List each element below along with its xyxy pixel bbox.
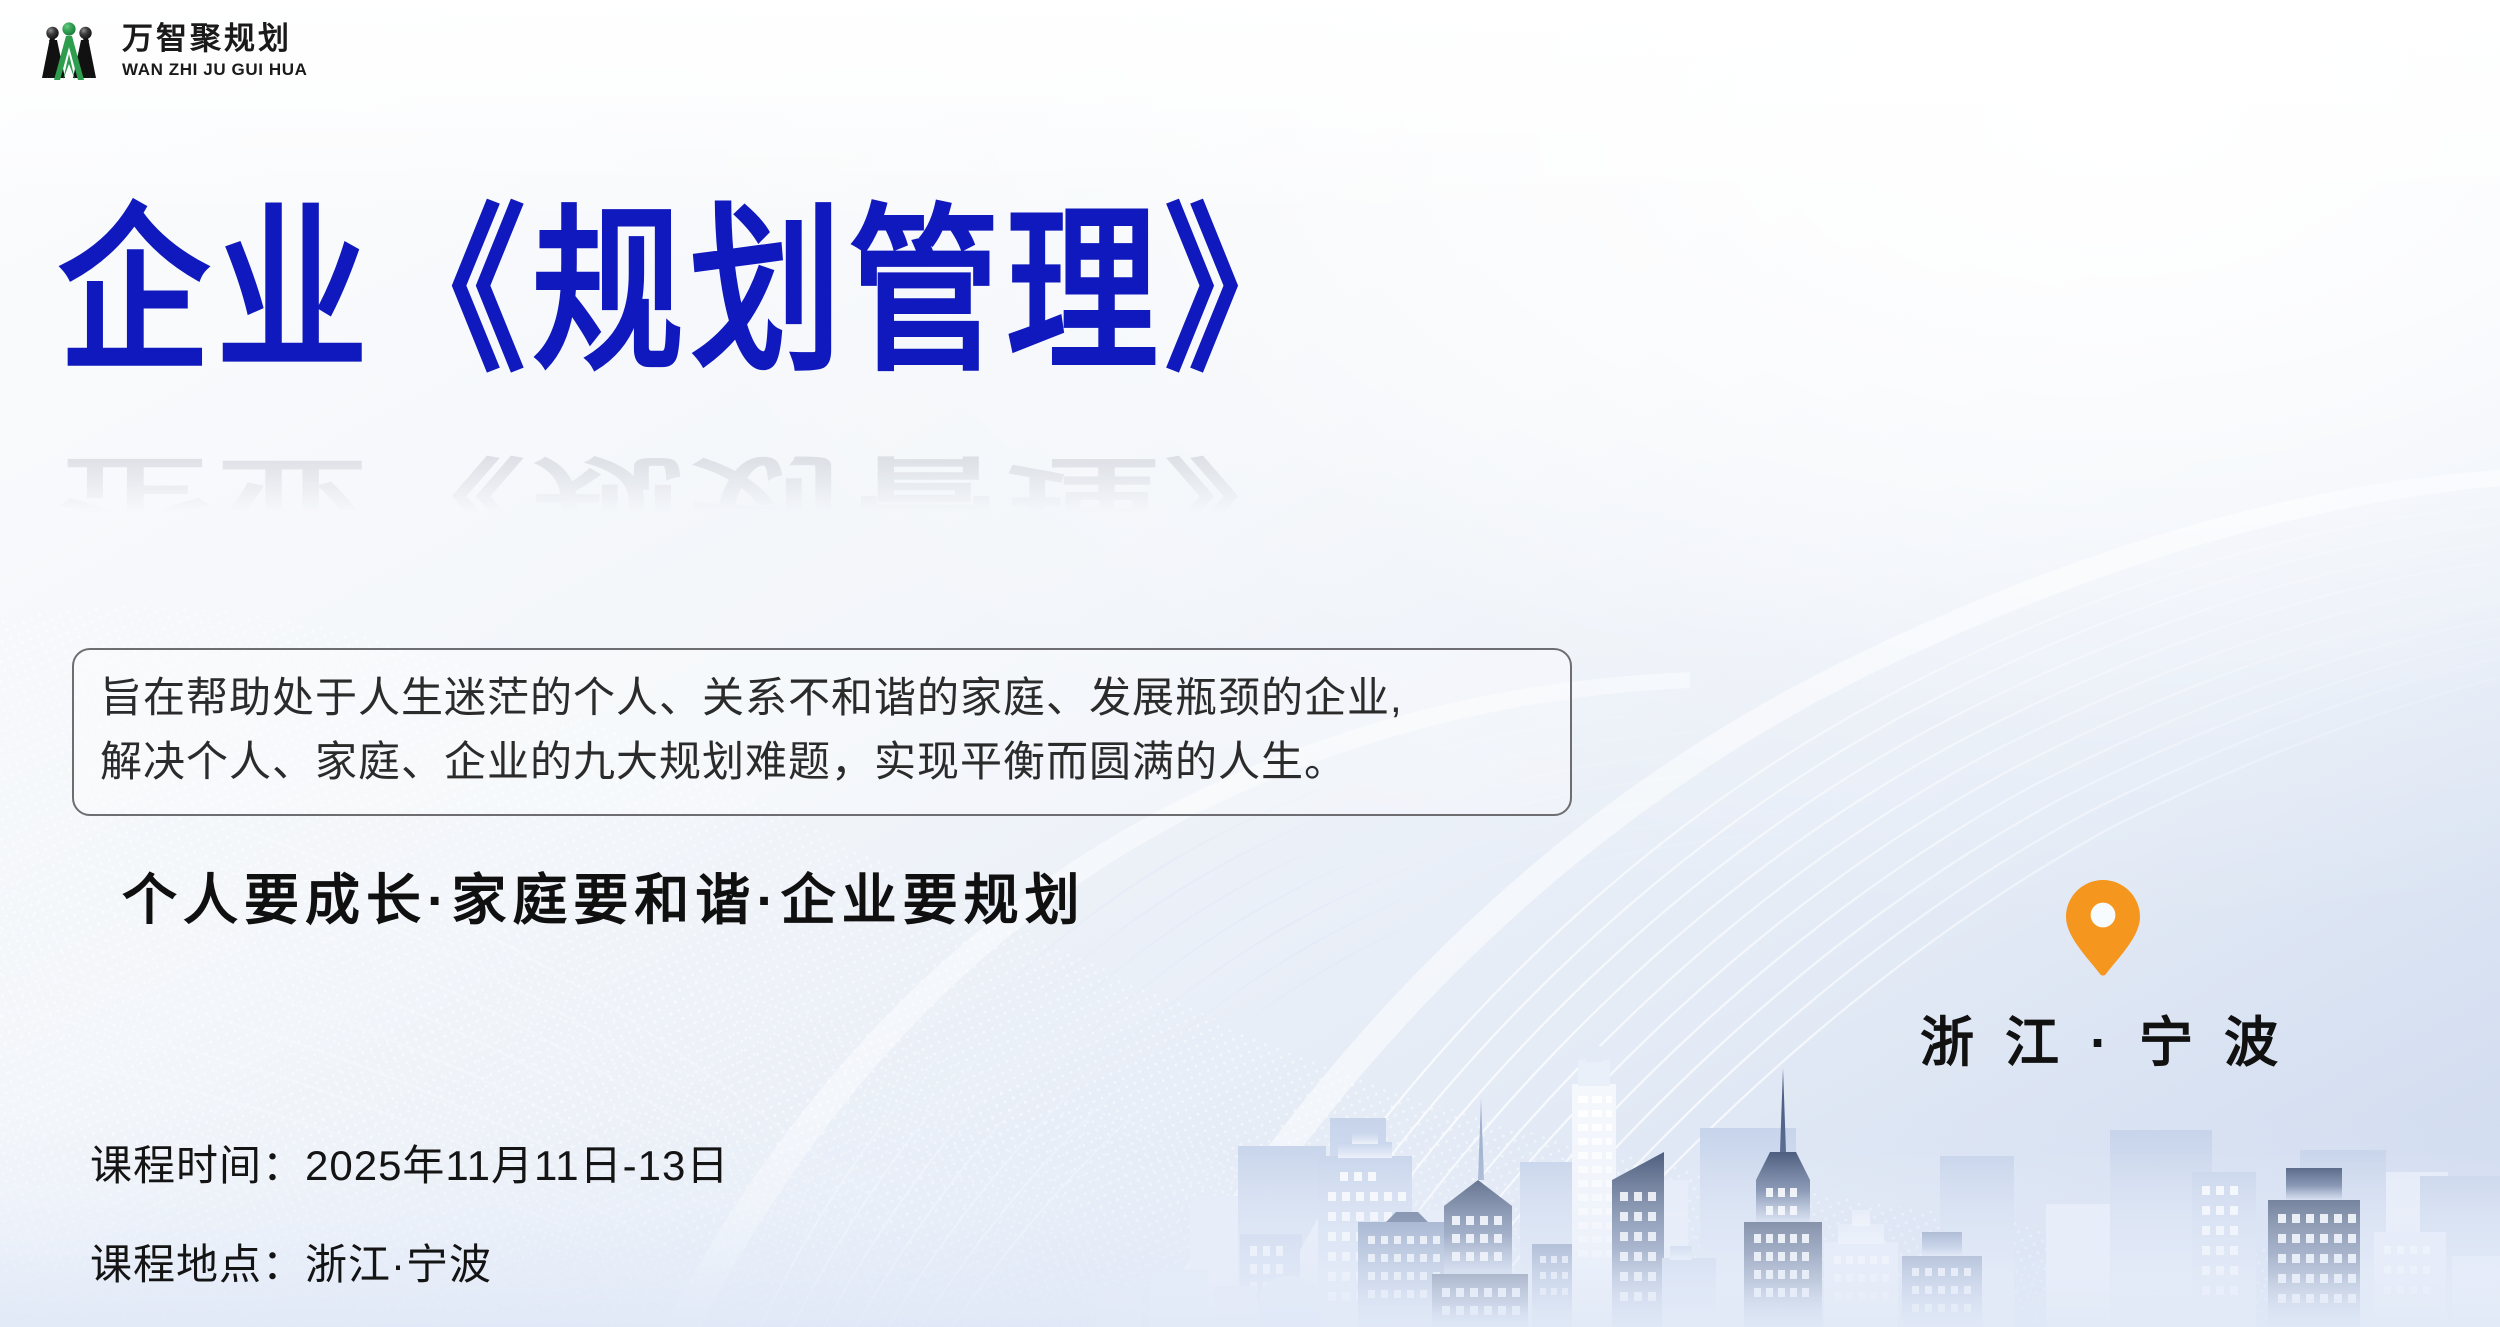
description-line-2: 解决个人、家庭、企业的九大规划难题，实现平衡而圆满的人生。	[100, 730, 1544, 794]
location-badge: 浙 江 · 宁 波	[1920, 880, 2286, 1077]
brand-name-block: 万智聚规划 WAN ZHI JU GUI HUA	[122, 23, 308, 78]
poster-canvas: 万智聚规划 WAN ZHI JU GUI HUA 企业《规划管理》 企业《规划管…	[0, 0, 2500, 1327]
course-info-block: 课程时间：2025年11月11日-13日 课程地点：浙江·宁波	[90, 1132, 729, 1292]
brand-logo: 万智聚规划 WAN ZHI JU GUI HUA	[30, 14, 308, 86]
brand-name-cn: 万智聚规划	[122, 23, 308, 54]
location-label: 浙 江 · 宁 波	[1920, 998, 2286, 1077]
course-place-line: 课程地点：浙江·宁波	[90, 1231, 729, 1292]
slogan-text: 个人要成长·家庭要和谐·企业要规划	[122, 855, 1086, 935]
map-pin-icon	[2066, 880, 2140, 976]
hero-title-block: 企业《规划管理》 企业《规划管理》	[58, 198, 1322, 698]
description-line-1: 旨在帮助处于人生迷茫的个人、关系不和谐的家庭、发展瓶颈的企业,	[100, 666, 1544, 730]
description-box: 旨在帮助处于人生迷茫的个人、关系不和谐的家庭、发展瓶颈的企业, 解决个人、家庭、…	[72, 648, 1572, 816]
course-time-line: 课程时间：2025年11月11日-13日	[90, 1132, 729, 1193]
page-title-reflection: 企业《规划管理》	[58, 448, 1322, 537]
three-people-logo-icon	[30, 14, 108, 86]
brand-name-en: WAN ZHI JU GUI HUA	[122, 61, 308, 78]
page-title: 企业《规划管理》	[58, 198, 1322, 388]
